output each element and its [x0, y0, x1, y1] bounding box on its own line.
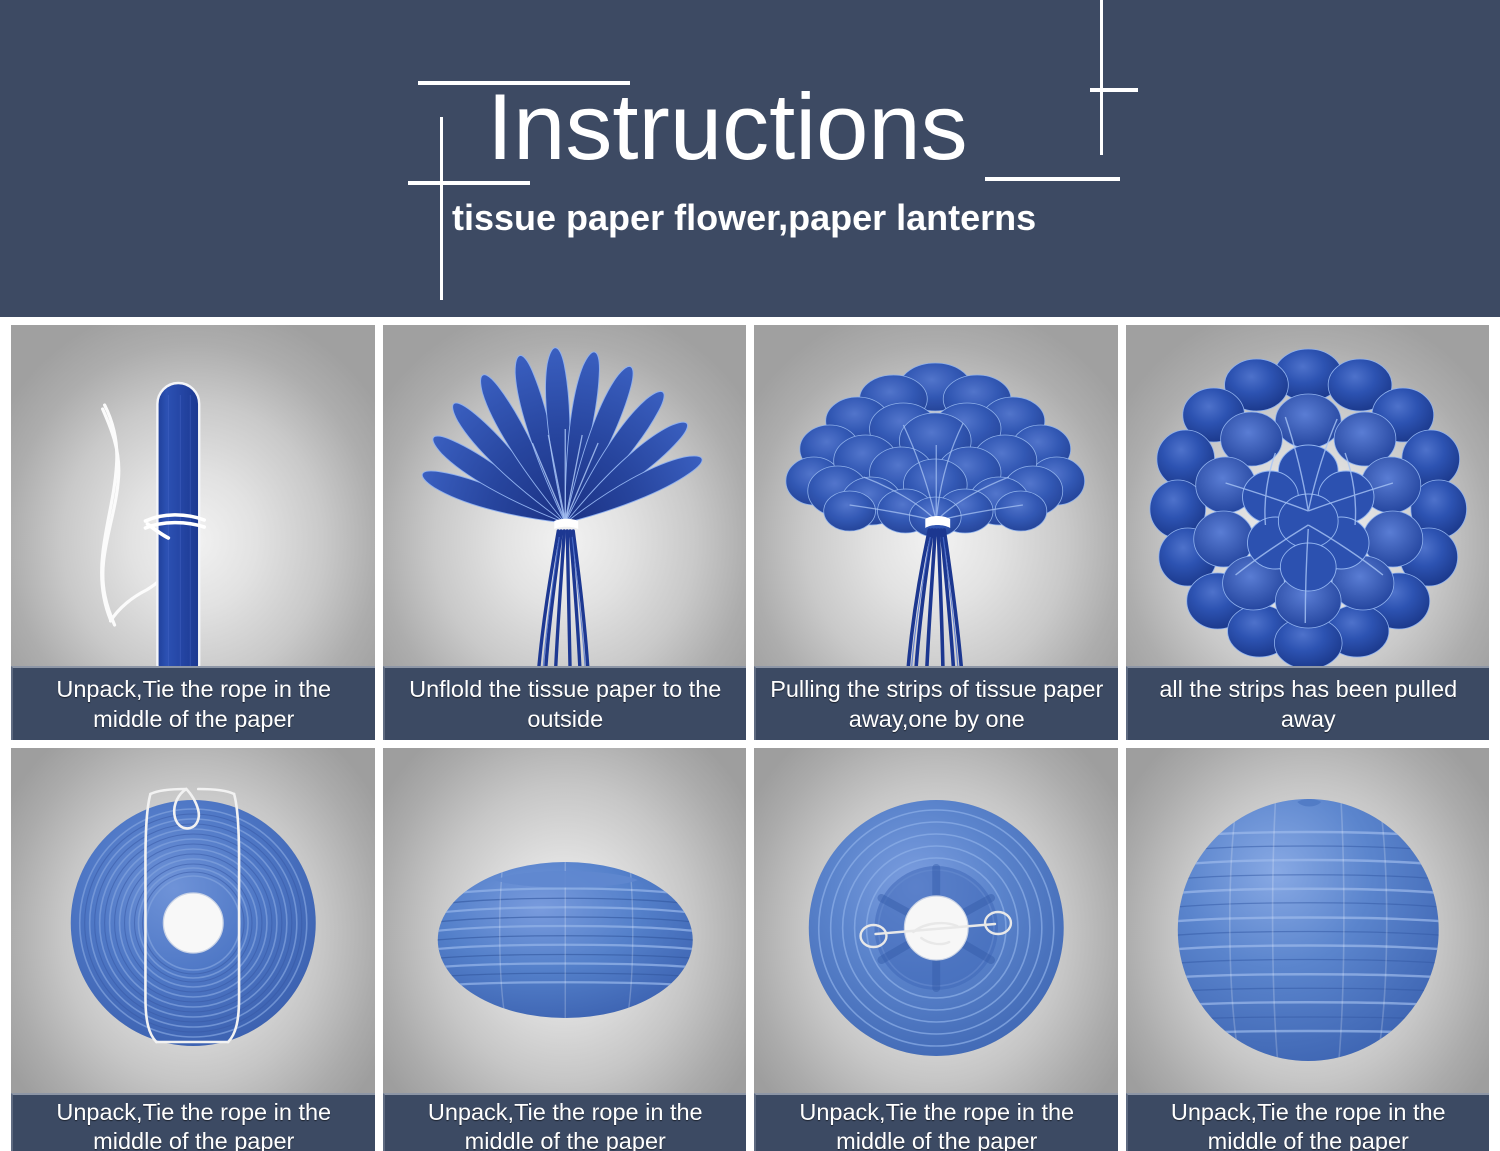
step-card-5: Unpack,Tie the rope in the middle of the…: [11, 748, 375, 1151]
step-caption-text-7: Unpack,Tie the rope in the middle of the…: [762, 1098, 1112, 1151]
instructions-page: Instructions tissue paper flower,paper l…: [0, 0, 1500, 1151]
step-caption-text-6: Unpack,Tie the rope in the middle of the…: [391, 1098, 741, 1151]
step-caption-text-1: Unpack,Tie the rope in the middle of the…: [19, 674, 369, 734]
step-card-2: Unflold the tissue paper to the outside: [383, 325, 747, 740]
decorative-line-lower-right: [985, 177, 1120, 181]
decorative-line-mid-left: [408, 181, 530, 185]
step-card-4: all the strips has been pulled away: [1126, 325, 1490, 740]
flat-lantern-with-wire-frame-icon: [11, 748, 375, 1151]
step-caption-text-3: Pulling the strips of tissue paper away,…: [762, 674, 1112, 734]
step-caption-bar-3: Pulling the strips of tissue paper away,…: [754, 666, 1118, 740]
step-card-7: Unpack,Tie the rope in the middle of the…: [754, 748, 1118, 1151]
step-caption-bar-8: Unpack,Tie the rope in the middle of the…: [1126, 1093, 1490, 1151]
decorative-line-vertical-right: [1100, 0, 1103, 155]
step-card-8: Unpack,Tie the rope in the middle of the…: [1126, 748, 1490, 1151]
decorative-line-top-right: [1090, 88, 1138, 92]
step-caption-text-2: Unflold the tissue paper to the outside: [391, 674, 741, 734]
page-title: Instructions: [487, 80, 968, 174]
step-caption-bar-1: Unpack,Tie the rope in the middle of the…: [11, 666, 375, 740]
step-card-3: Pulling the strips of tissue paper away,…: [754, 325, 1118, 740]
instruction-steps-grid: Unpack,Tie the rope in the middle of the…: [11, 325, 1489, 1151]
step-caption-text-5: Unpack,Tie the rope in the middle of the…: [19, 1098, 369, 1151]
step-caption-bar-6: Unpack,Tie the rope in the middle of the…: [383, 1093, 747, 1151]
page-header: Instructions tissue paper flower,paper l…: [0, 0, 1500, 317]
page-subtitle: tissue paper flower,paper lanterns: [452, 200, 1036, 236]
step-caption-bar-5: Unpack,Tie the rope in the middle of the…: [11, 1093, 375, 1151]
decorative-line-vertical-left: [440, 117, 443, 300]
step-caption-text-8: Unpack,Tie the rope in the middle of the…: [1134, 1098, 1484, 1151]
step-caption-text-4: all the strips has been pulled away: [1134, 674, 1484, 734]
step-card-6: Unpack,Tie the rope in the middle of the…: [383, 748, 747, 1151]
fully-expanded-lantern-icon: [1126, 748, 1490, 1151]
partially-expanded-lantern-icon: [383, 748, 747, 1151]
step-card-1: Unpack,Tie the rope in the middle of the…: [11, 325, 375, 740]
step-caption-bar-4: all the strips has been pulled away: [1126, 666, 1490, 740]
step-caption-bar-2: Unflold the tissue paper to the outside: [383, 666, 747, 740]
lantern-bottom-view-with-strut-icon: [754, 748, 1118, 1151]
step-caption-bar-7: Unpack,Tie the rope in the middle of the…: [754, 1093, 1118, 1151]
